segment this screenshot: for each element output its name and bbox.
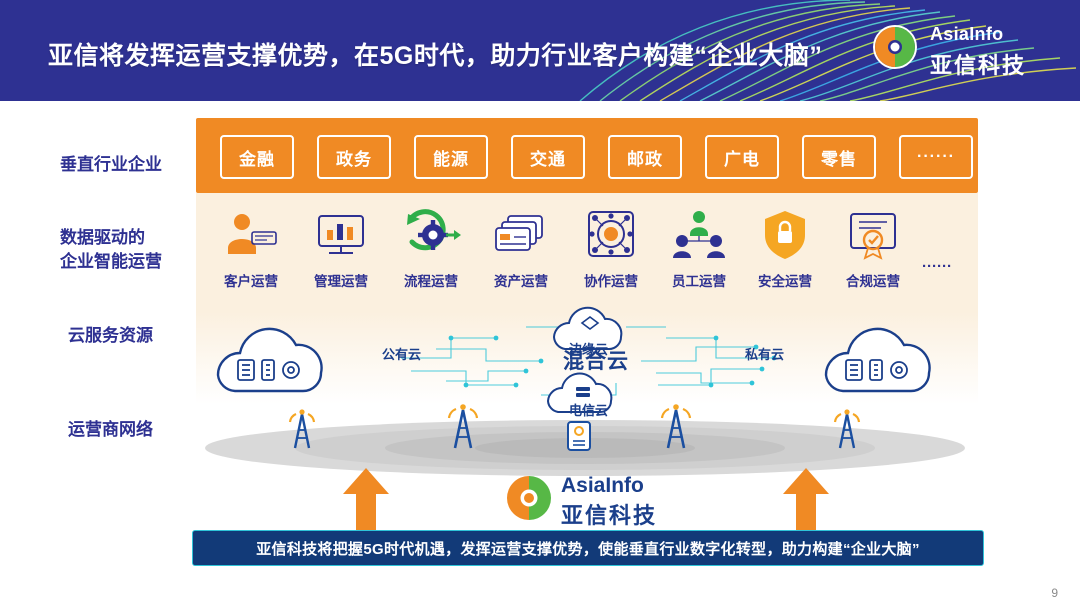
industry-chip-label: ······ bbox=[917, 148, 955, 166]
compliance-badge-icon bbox=[828, 204, 918, 266]
operation-label: 流程运营 bbox=[386, 270, 476, 290]
industry-chip-1[interactable]: 政务 bbox=[317, 135, 391, 179]
collaboration-network-icon bbox=[566, 204, 656, 266]
cloud-zone: 公有云 边缘云 电信云 私有云 混合云 bbox=[196, 303, 978, 413]
industry-chip-label: 广电 bbox=[724, 145, 760, 170]
footer-brand-en: AsiaInfo bbox=[561, 474, 644, 498]
operation-item-security[interactable]: 安全运营 bbox=[740, 204, 830, 290]
brand-name-cn: 亚信科技 bbox=[930, 48, 1026, 80]
operation-item-compliance[interactable]: 合规运营 bbox=[828, 204, 918, 290]
operation-item-asset[interactable]: 资产运营 bbox=[476, 204, 566, 290]
bottom-banner: 亚信科技将把握5G时代机遇，发挥运营支撑优势，使能垂直行业数字化转型，助力构建“… bbox=[192, 530, 984, 566]
brand-logo: AsiaInfo 亚信科技 bbox=[930, 22, 1060, 84]
industry-chip-label: 邮政 bbox=[627, 145, 663, 170]
slide-root: 亚信将发挥运营支撑优势，在5G时代，助力行业客户构建“企业大脑” AsiaInf… bbox=[0, 0, 1080, 608]
operation-item-management[interactable]: 管理运营 bbox=[296, 204, 386, 290]
operations-more-dots: ······ bbox=[922, 258, 952, 275]
row-label-carrier-network: 运营商网络 bbox=[68, 418, 153, 442]
security-shield-icon bbox=[740, 204, 830, 266]
operation-label: 员工运营 bbox=[654, 270, 744, 290]
footer-brand-cn: 亚信科技 bbox=[561, 498, 657, 530]
footer-brand-logo: AsiaInfo 亚信科技 bbox=[505, 472, 685, 528]
row-label-cloud-resources: 云服务资源 bbox=[68, 324, 153, 348]
industry-chip-4[interactable]: 邮政 bbox=[608, 135, 682, 179]
operation-label: 协作运营 bbox=[566, 270, 656, 290]
page-number: 9 bbox=[1051, 586, 1058, 600]
operation-label: 合规运营 bbox=[828, 270, 918, 290]
industry-chip-more[interactable]: ······ bbox=[899, 135, 973, 179]
public-cloud-shape bbox=[218, 329, 322, 391]
industry-chip-3[interactable]: 交通 bbox=[511, 135, 585, 179]
operation-item-process[interactable]: 流程运营 bbox=[386, 204, 476, 290]
operation-item-customer[interactable]: 客户运营 bbox=[206, 204, 296, 290]
employee-org-icon bbox=[654, 204, 744, 266]
asset-cards-icon bbox=[476, 204, 566, 266]
operation-label: 安全运营 bbox=[740, 270, 830, 290]
industry-chip-label: 金融 bbox=[239, 145, 275, 170]
bottom-banner-text: 亚信科技将把握5G时代机遇，发挥运营支撑优势，使能垂直行业数字化转型，助力构建“… bbox=[256, 538, 920, 559]
page-title: 亚信将发挥运营支撑优势，在5G时代，助力行业客户构建“企业大脑” bbox=[48, 36, 822, 72]
operation-item-collaboration[interactable]: 协作运营 bbox=[566, 204, 656, 290]
right-up-arrow-icon bbox=[782, 468, 830, 532]
hybrid-cloud-label: 混合云 bbox=[536, 345, 656, 375]
asiainfo-logo-icon bbox=[505, 474, 553, 522]
industry-chip-5[interactable]: 广电 bbox=[705, 135, 779, 179]
industry-chip-label: 零售 bbox=[821, 145, 857, 170]
operation-label: 资产运营 bbox=[476, 270, 566, 290]
left-up-arrow-icon bbox=[342, 468, 390, 532]
industry-chip-6[interactable]: 零售 bbox=[802, 135, 876, 179]
private-cloud-shape bbox=[826, 329, 930, 391]
industry-chip-label: 交通 bbox=[530, 145, 566, 170]
industry-chip-label: 政务 bbox=[336, 145, 372, 170]
management-dashboard-icon bbox=[296, 204, 386, 266]
carrier-network-graphic bbox=[190, 400, 980, 478]
row-label-data-driven-ops: 数据驱动的 企业智能运营 bbox=[60, 226, 162, 274]
asiainfo-logo-icon bbox=[872, 24, 918, 70]
slide-header: 亚信将发挥运营支撑优势，在5G时代，助力行业客户构建“企业大脑” AsiaInf… bbox=[0, 0, 1080, 101]
public-cloud-label: 公有云 bbox=[382, 344, 421, 363]
network-zone bbox=[190, 400, 980, 478]
process-gear-icon bbox=[386, 204, 476, 266]
industry-chip-label: 能源 bbox=[433, 145, 469, 170]
operation-item-employee[interactable]: 员工运营 bbox=[654, 204, 744, 290]
brand-name-en: AsiaInfo bbox=[930, 24, 1003, 45]
operation-label: 管理运营 bbox=[296, 270, 386, 290]
operation-label: 客户运营 bbox=[206, 270, 296, 290]
industry-chip-0[interactable]: 金融 bbox=[220, 135, 294, 179]
private-cloud-label: 私有云 bbox=[745, 344, 784, 363]
network-device-icon bbox=[568, 422, 590, 450]
customer-operation-icon bbox=[206, 204, 296, 266]
industry-chip-2[interactable]: 能源 bbox=[414, 135, 488, 179]
row-label-vertical-industry: 垂直行业企业 bbox=[60, 153, 162, 177]
